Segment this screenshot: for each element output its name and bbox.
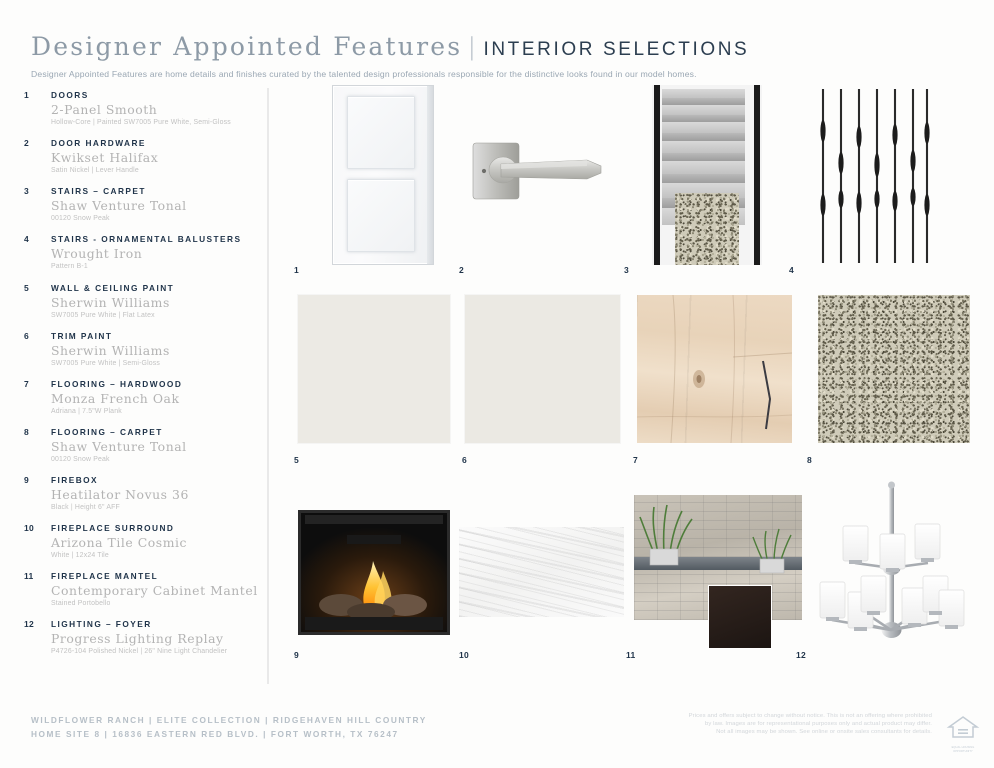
page-subtitle: Designer Appointed Features are home det… <box>31 69 961 79</box>
spec-item-9[interactable]: 9 FIREBOX Heatilator Novus 36 Black | He… <box>24 475 264 512</box>
door-edge <box>427 86 433 264</box>
page-header: Designer Appointed Features | INTERIOR S… <box>31 32 961 79</box>
spec-detail: SW7005 Pure White | Semi-Gloss <box>51 359 264 368</box>
gallery-index: 9 <box>294 650 299 660</box>
spec-name: Monza French Oak <box>51 392 264 406</box>
spec-name: Arizona Tile Cosmic <box>51 536 264 550</box>
spec-detail: SW7005 Pure White | Flat Latex <box>51 311 264 320</box>
spec-category: FLOORING – CARPET <box>51 427 264 438</box>
spec-detail: Satin Nickel | Lever Handle <box>51 166 264 175</box>
spec-name: Sherwin Williams <box>51 344 264 358</box>
spec-number: 11 <box>24 571 44 581</box>
door-panel-upper <box>347 96 415 169</box>
spec-number: 9 <box>24 475 44 485</box>
community-line-2: HOME SITE 8 | 16836 EASTERN RED BLVD. | … <box>31 728 427 742</box>
spec-item-12[interactable]: 12 LIGHTING – FOYER Progress Lighting Re… <box>24 619 264 656</box>
gallery-cell-10[interactable]: 10 <box>455 500 620 690</box>
spec-category: TRIM PAINT <box>51 331 264 342</box>
equal-housing-opportunity-icon <box>946 714 980 740</box>
footer-disclaimer: Prices and offers subject to change with… <box>632 712 932 737</box>
title-primary: Designer Appointed Features <box>31 32 462 61</box>
spec-detail: P4726-104 Polished Nickel | 26" Nine Lig… <box>51 647 264 656</box>
gallery-cell-4[interactable]: 4 <box>785 85 950 275</box>
footer-community-info: WILDFLOWER RANCH | ELITE COLLECTION | RI… <box>31 714 427 741</box>
gallery-index: 2 <box>459 265 464 275</box>
disclaimer-line-1: Prices and offers subject to change with… <box>632 712 932 720</box>
gallery-index: 3 <box>624 265 629 275</box>
spec-name: Contemporary Cabinet Mantel <box>51 584 264 598</box>
spec-detail: Pattern B-1 <box>51 262 264 271</box>
gallery-cell-7[interactable]: 7 <box>635 290 800 480</box>
spec-name: Kwikset Halifax <box>51 151 264 165</box>
spec-number: 10 <box>24 523 44 533</box>
spec-item-1[interactable]: 1 DOORS 2-Panel Smooth Hollow-Core | Pai… <box>24 90 264 127</box>
stair-tread <box>662 141 746 153</box>
spec-name: Heatilator Novus 36 <box>51 488 264 502</box>
gallery-index: 6 <box>462 455 467 465</box>
stair-rail-left <box>654 85 660 265</box>
gallery-cell-1[interactable]: 1 <box>290 85 455 275</box>
stair-tread <box>662 89 746 98</box>
spec-name: Wrought Iron <box>51 247 264 261</box>
spec-item-10[interactable]: 10 FIREPLACE SURROUND Arizona Tile Cosmi… <box>24 523 264 560</box>
spec-category: WALL & CEILING PAINT <box>51 283 264 294</box>
spec-category: DOOR HARDWARE <box>51 138 264 149</box>
hardwood-plank-swatch <box>637 295 792 443</box>
stair-riser <box>662 133 746 141</box>
spec-item-2[interactable]: 2 DOOR HARDWARE Kwikset Halifax Satin Ni… <box>24 138 264 175</box>
gallery-index: 5 <box>294 455 299 465</box>
door-lever-handle-image <box>455 133 620 228</box>
spec-number: 7 <box>24 379 44 389</box>
spec-item-11[interactable]: 11 FIREPLACE MANTEL Contemporary Cabinet… <box>24 571 264 608</box>
spec-item-7[interactable]: 7 FLOORING – HARDWOOD Monza French Oak A… <box>24 379 264 416</box>
disclaimer-line-3: Not all images may be shown. See online … <box>632 728 932 736</box>
gallery-index: 7 <box>633 455 638 465</box>
spec-category: FIREPLACE SURROUND <box>51 523 264 534</box>
spec-item-5[interactable]: 5 WALL & CEILING PAINT Sherwin Williams … <box>24 283 264 320</box>
gallery-cell-6[interactable]: 6 <box>465 290 630 480</box>
chandelier-icon <box>808 480 976 658</box>
gas-firebox-image <box>298 510 450 635</box>
gallery-index: 11 <box>626 650 636 660</box>
stair-riser <box>662 153 746 161</box>
spec-item-8[interactable]: 8 FLOORING – CARPET Shaw Venture Tonal 0… <box>24 427 264 464</box>
eho-caption-line-2: OPPORTUNITY <box>946 750 980 753</box>
spec-category: STAIRS – CARPET <box>51 186 264 197</box>
spec-detail: White | 12x24 Tile <box>51 551 264 560</box>
spec-category: DOORS <box>51 90 264 101</box>
stair-riser <box>662 174 746 183</box>
stair-tread <box>662 105 746 115</box>
spec-category: FIREPLACE MANTEL <box>51 571 264 582</box>
spec-item-6[interactable]: 6 TRIM PAINT Sherwin Williams SW7005 Pur… <box>24 331 264 368</box>
fireplace-flame-icon <box>301 513 447 632</box>
vertical-divider <box>267 88 269 684</box>
gallery-cell-11[interactable]: 11 <box>630 500 805 690</box>
spec-name: Sherwin Williams <box>51 296 264 310</box>
gallery-cell-8[interactable]: 8 <box>805 290 970 480</box>
spec-number: 2 <box>24 138 44 148</box>
gallery-cell-3[interactable]: 3 <box>620 85 785 275</box>
wall-paint-swatch <box>298 295 450 443</box>
spec-number: 4 <box>24 234 44 244</box>
wood-grain-detail <box>637 295 792 443</box>
spec-detail: Stained Portobello <box>51 599 264 608</box>
spec-name: Shaw Venture Tonal <box>51 199 264 213</box>
carpet-swatch <box>818 295 970 443</box>
page-title: Designer Appointed Features | INTERIOR S… <box>31 32 961 62</box>
gallery-index: 4 <box>789 265 794 275</box>
spec-detail: 00120 Snow Peak <box>51 214 264 223</box>
stair-riser <box>662 98 746 105</box>
stair-tread <box>662 122 746 133</box>
door-panel-lower <box>347 179 415 252</box>
gallery-cell-9[interactable]: 9 <box>290 500 455 690</box>
trim-paint-swatch <box>465 295 620 443</box>
selection-image-grid: 1 <box>290 85 980 685</box>
spec-item-3[interactable]: 3 STAIRS – CARPET Shaw Venture Tonal 001… <box>24 186 264 223</box>
gallery-cell-12[interactable]: 12 <box>800 480 975 690</box>
spec-number: 3 <box>24 186 44 196</box>
spec-number: 5 <box>24 283 44 293</box>
spec-number: 12 <box>24 619 44 629</box>
equal-housing-logo: EQUAL HOUSING OPPORTUNITY <box>946 714 980 748</box>
spec-detail: Black | Height 6" AFF <box>51 503 264 512</box>
gallery-index: 1 <box>294 265 299 275</box>
spec-detail: Adriana | 7.5"W Plank <box>51 407 264 416</box>
spec-category: LIGHTING – FOYER <box>51 619 264 630</box>
mantel-stain-swatch <box>708 585 772 649</box>
lever-handle-icon <box>455 133 620 228</box>
gallery-index: 12 <box>796 650 806 660</box>
carpeted-staircase-image <box>652 85 762 265</box>
interior-door-image <box>332 85 434 265</box>
spec-detail: Hollow-Core | Painted SW7005 Pure White,… <box>51 118 264 127</box>
spec-name: Shaw Venture Tonal <box>51 440 264 454</box>
gallery-cell-2[interactable]: 2 <box>455 85 620 275</box>
spec-number: 8 <box>24 427 44 437</box>
chandelier-image <box>808 480 976 658</box>
title-divider: | <box>469 32 474 62</box>
spec-category: FLOORING – HARDWOOD <box>51 379 264 390</box>
stair-rail-right <box>754 85 760 265</box>
wrought-iron-balusters-image <box>813 87 933 265</box>
gallery-cell-5[interactable]: 5 <box>290 290 455 480</box>
spec-category: FIREBOX <box>51 475 264 486</box>
stair-riser <box>662 115 746 122</box>
community-line-1: WILDFLOWER RANCH | ELITE COLLECTION | RI… <box>31 714 427 728</box>
eho-caption-line-1: EQUAL HOUSING <box>946 746 980 749</box>
spec-sheet-page: Designer Appointed Features | INTERIOR S… <box>0 0 994 768</box>
disclaimer-line-2: by law. Images are for representational … <box>632 720 932 728</box>
spec-category: STAIRS - ORNAMENTAL BALUSTERS <box>51 234 264 245</box>
marble-tile-swatch <box>459 527 624 617</box>
title-secondary: INTERIOR SELECTIONS <box>483 39 749 61</box>
stair-tread <box>662 161 746 174</box>
spec-number: 6 <box>24 331 44 341</box>
spec-name: 2-Panel Smooth <box>51 103 264 117</box>
gallery-index: 8 <box>807 455 812 465</box>
spec-detail: 00120 Snow Peak <box>51 455 264 464</box>
gallery-index: 10 <box>459 650 469 660</box>
spec-name: Progress Lighting Replay <box>51 632 264 646</box>
spec-number: 1 <box>24 90 44 100</box>
spec-item-4[interactable]: 4 STAIRS - ORNAMENTAL BALUSTERS Wrought … <box>24 234 264 271</box>
stair-carpet-swatch-overlay <box>675 193 739 265</box>
baluster-icon <box>813 87 933 265</box>
